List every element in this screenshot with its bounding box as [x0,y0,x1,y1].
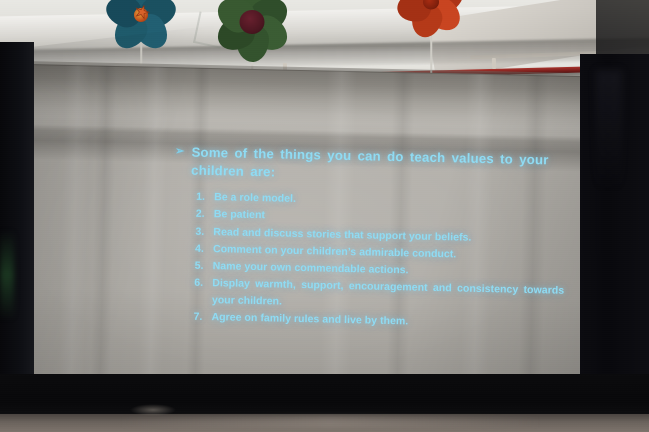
photo-scene: ➢ Some of the things you can do teach va… [0,0,649,432]
paper-flower-red [395,0,467,38]
floor-object [130,404,176,416]
dark-corner-top-right [596,0,649,60]
list-item-number: 3. [195,223,206,240]
slide-title: ➢ Some of the things you can do teach va… [175,143,568,187]
list-item-number: 4. [195,241,206,258]
curtain-green-glint [0,230,14,320]
slide-title-text: Some of the things you can do teach valu… [191,144,567,187]
pipe-bracket-right [492,58,496,69]
slide-list: 1. Be a role model. 2. Be patient 3. Rea… [171,188,566,333]
arrow-bullet-icon: ➢ [175,143,185,178]
curtain-sheen [596,70,622,190]
list-item-number: 5. [194,258,205,275]
list-item-number: 1. [196,189,207,206]
slide-content: ➢ Some of the things you can do teach va… [171,143,567,334]
paper-flower-teal [104,0,178,52]
projection-screen: ➢ Some of the things you can do teach va… [20,64,587,394]
paper-flower-green [212,0,292,62]
flower-center [240,10,265,34]
floor-sheen [120,416,540,428]
list-item-number: 7. [193,309,204,326]
list-item-number: 6. [194,275,206,308]
list-item-number: 2. [196,206,207,223]
